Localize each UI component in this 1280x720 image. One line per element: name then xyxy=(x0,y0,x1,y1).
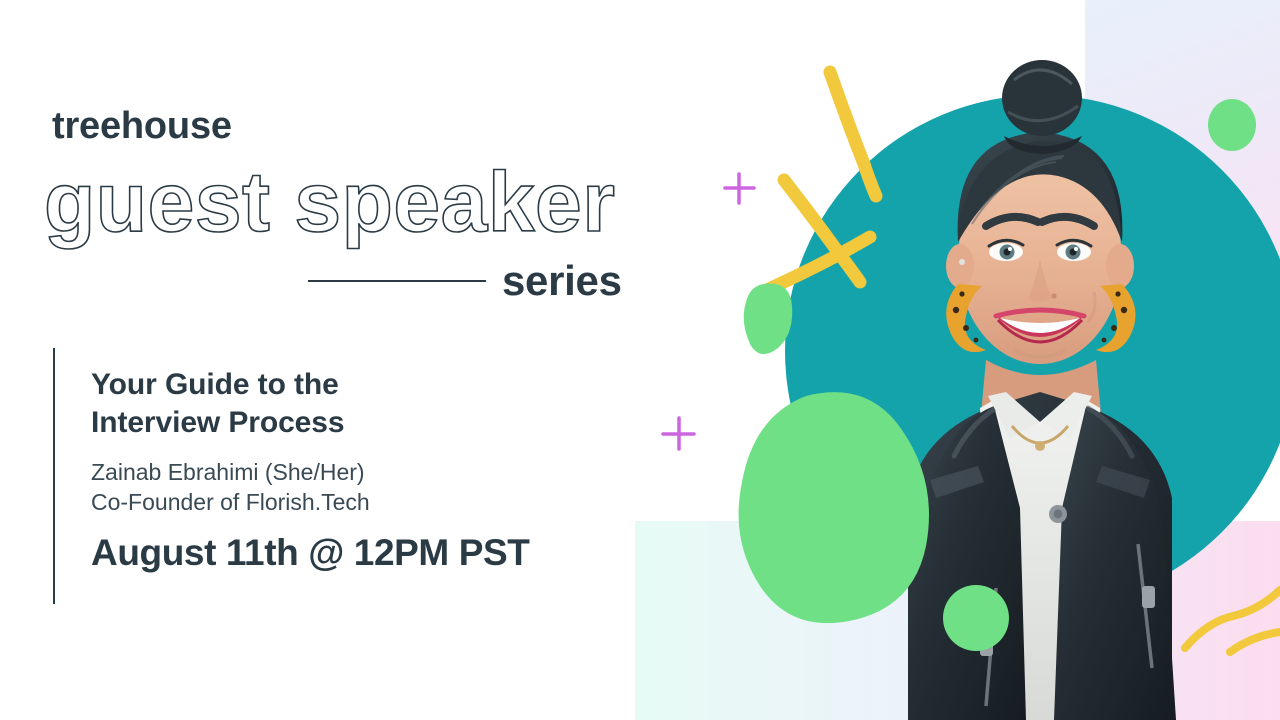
magenta-plus-marks xyxy=(663,174,754,449)
session-title: Your Guide to the Interview Process xyxy=(91,366,651,443)
guest-speaker-promo-slide: treehouse guest speaker series Your Guid… xyxy=(0,0,1280,720)
speaker-name: Zainab Ebrahimi (She/Her) xyxy=(91,457,651,488)
series-row: series xyxy=(308,258,628,304)
speaker-role: Co-Founder of Florish.Tech xyxy=(91,487,651,518)
guest-speaker-headline: guest speaker xyxy=(44,160,615,244)
series-divider-rule xyxy=(308,280,486,282)
speaker-portrait xyxy=(790,28,1280,720)
treehouse-wordmark: treehouse xyxy=(52,107,232,145)
series-label: series xyxy=(502,260,622,302)
session-details: Your Guide to the Interview Process Zain… xyxy=(91,366,651,573)
event-datetime: August 11th @ 12PM PST xyxy=(91,532,651,573)
detail-vertical-rule xyxy=(53,348,55,604)
